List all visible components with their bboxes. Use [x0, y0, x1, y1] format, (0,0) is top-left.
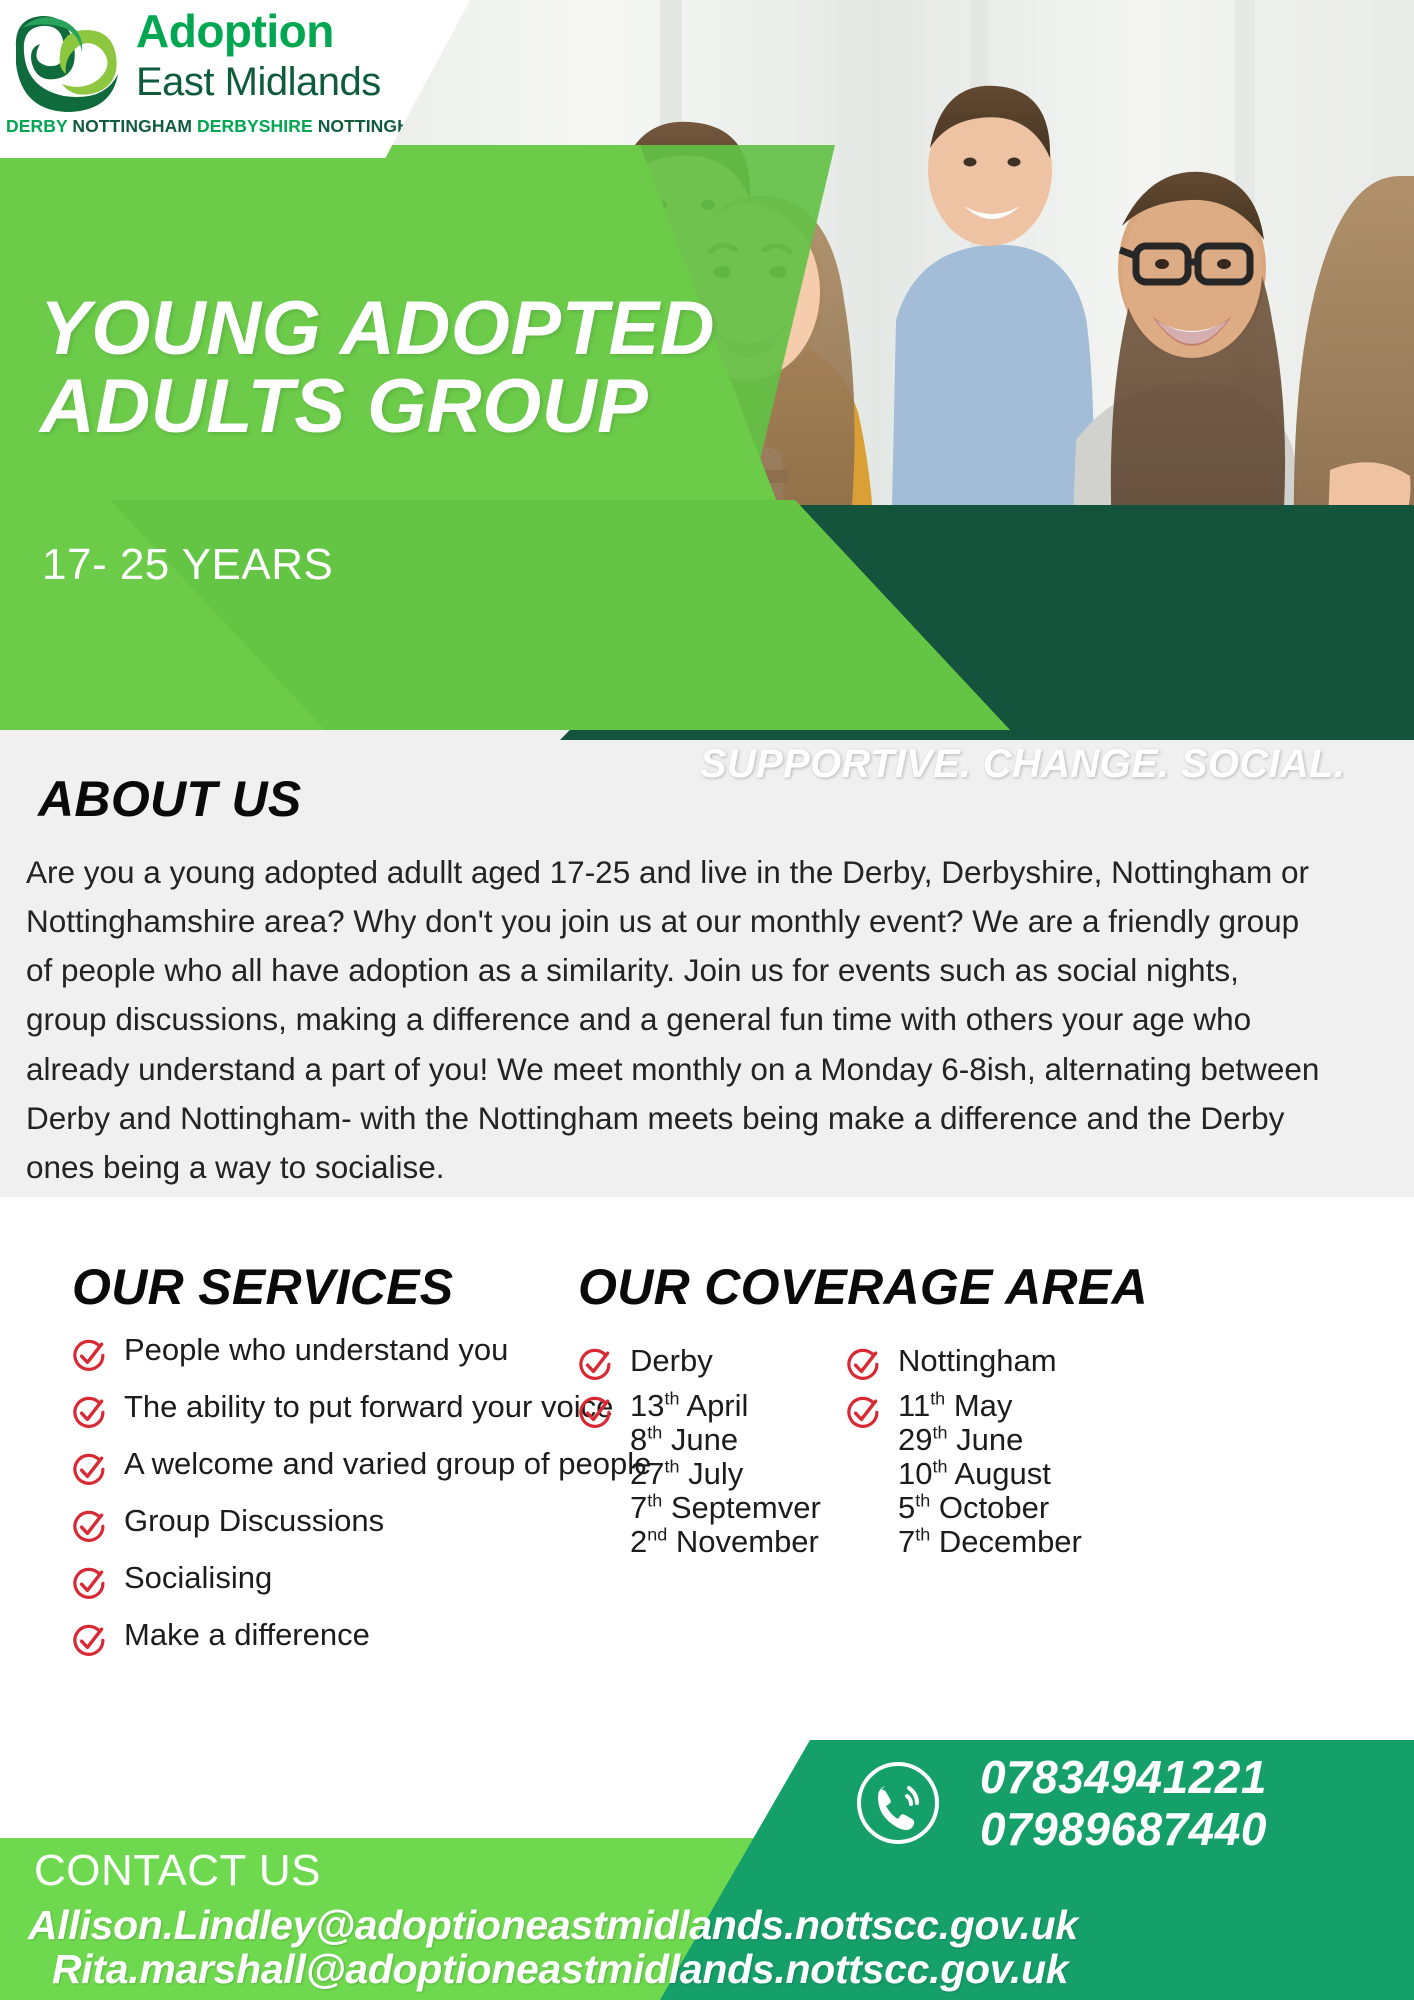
date-day: 27: [630, 1456, 664, 1491]
date-day: 5: [898, 1490, 915, 1525]
phone-numbers[interactable]: 07834941221 07989687440: [980, 1752, 1267, 1855]
check-circle-icon: [578, 1396, 612, 1430]
logo-subwordmark: East Midlands: [136, 62, 381, 102]
date-month: October: [939, 1490, 1049, 1525]
date-ordinal: th: [915, 1525, 930, 1545]
date-day: 8: [630, 1422, 647, 1457]
coverage-date-item: 8th June: [630, 1424, 821, 1455]
coverage-dates-row: 13th April8th June27th July7th Septemver…: [578, 1390, 846, 1560]
coverage-date-item: 5th October: [898, 1492, 1082, 1523]
date-ordinal: th: [647, 1491, 662, 1511]
coverage-date-item: 11th May: [898, 1390, 1082, 1421]
date-day: 13: [630, 1388, 664, 1423]
tagline: SUPPORTIVE. CHANGE. SOCIAL.: [700, 742, 1345, 787]
phone-number-1[interactable]: 07834941221: [980, 1752, 1267, 1804]
coverage-date-item: 10th August: [898, 1458, 1082, 1489]
date-month: June: [956, 1422, 1023, 1457]
coverage-city-row: Nottingham: [846, 1342, 1082, 1382]
date-ordinal: nd: [647, 1525, 667, 1545]
service-item-label: Socialising: [124, 1560, 272, 1596]
coverage-city-name: Derby: [630, 1342, 713, 1379]
coverage-city-column: Nottingham11th May29th June10th August5t…: [846, 1342, 1082, 1560]
phone-ringing-icon: [855, 1760, 941, 1846]
date-day: 7: [630, 1490, 647, 1525]
email-address-1[interactable]: Allison.Lindley@adoptioneastmidlands.not…: [28, 1902, 1078, 1949]
date-day: 29: [898, 1422, 932, 1457]
about-heading: ABOUT US: [38, 770, 302, 828]
date-day: 11: [898, 1388, 930, 1423]
coverage-city-column: Derby13th April8th June27th July7th Sept…: [578, 1342, 846, 1560]
coverage-date-item: 2nd November: [630, 1526, 821, 1557]
date-ordinal: th: [664, 1389, 679, 1409]
coverage-date-list: 13th April8th June27th July7th Septemver…: [630, 1390, 821, 1560]
date-month: April: [686, 1388, 748, 1423]
county-nottingham: NOTTINGHAM: [72, 116, 197, 136]
phone-number-2[interactable]: 07989687440: [980, 1804, 1267, 1856]
service-item-label: Group Discussions: [124, 1503, 384, 1539]
title-line-1: YOUNG ADOPTED: [40, 286, 715, 371]
check-circle-icon: [72, 1453, 106, 1487]
check-circle-icon: [846, 1348, 880, 1382]
coverage-city-row: Derby: [578, 1342, 846, 1382]
date-month: August: [954, 1456, 1051, 1491]
service-item: Socialising: [72, 1560, 672, 1601]
poster-root: Adoption East Midlands DERBY NOTTINGHAM …: [0, 0, 1414, 2000]
coverage-heading: OUR COVERAGE AREA: [578, 1258, 1408, 1316]
title-line-2: ADULTS GROUP: [40, 368, 900, 446]
date-ordinal: th: [647, 1423, 662, 1443]
coverage-dates-row: 11th May29th June10th August5th October7…: [846, 1390, 1082, 1560]
coverage-date-item: 29th June: [898, 1424, 1082, 1455]
logo-wordmark: Adoption: [136, 8, 334, 54]
service-item-label: Make a difference: [124, 1617, 370, 1653]
check-circle-icon: [846, 1396, 880, 1430]
date-month: June: [671, 1422, 738, 1457]
county-derbyshire: DERBYSHIRE: [197, 116, 318, 136]
age-range-subtitle: 17- 25 YEARS: [42, 540, 333, 590]
check-circle-icon: [578, 1348, 612, 1382]
coverage-date-item: 7th December: [898, 1526, 1082, 1557]
check-circle-icon: [72, 1339, 106, 1373]
date-ordinal: th: [664, 1457, 679, 1477]
date-month: November: [676, 1524, 819, 1559]
about-body-text: Are you a young adopted adullt aged 17-2…: [26, 848, 1326, 1192]
date-ordinal: th: [930, 1389, 945, 1409]
check-circle-icon: [72, 1510, 106, 1544]
date-month: December: [939, 1524, 1082, 1559]
service-item-label: The ability to put forward your voice: [124, 1389, 613, 1425]
coverage-date-item: 27th July: [630, 1458, 821, 1489]
check-circle-icon: [72, 1396, 106, 1430]
date-month: July: [688, 1456, 743, 1491]
coverage-grid: Derby13th April8th June27th July7th Sept…: [578, 1342, 1408, 1560]
service-item-label: People who understand you: [124, 1332, 508, 1368]
adoption-swoosh-logo-icon: [8, 8, 128, 118]
date-day: 10: [898, 1456, 932, 1491]
date-month: Septemver: [671, 1490, 821, 1525]
date-day: 7: [898, 1524, 915, 1559]
date-day: 2: [630, 1524, 647, 1559]
coverage-section: OUR COVERAGE AREA Derby13th April8th Jun…: [578, 1258, 1408, 1560]
coverage-date-list: 11th May29th June10th August5th October7…: [898, 1390, 1082, 1560]
coverage-date-item: 7th Septemver: [630, 1492, 821, 1523]
email-address-2[interactable]: Rita.marshall@adoptioneastmidlands.notts…: [52, 1946, 1068, 1993]
contact-us-label: CONTACT US: [34, 1846, 321, 1896]
date-ordinal: th: [915, 1491, 930, 1511]
service-item-label: A welcome and varied group of people: [124, 1446, 651, 1482]
check-circle-icon: [72, 1624, 106, 1658]
page-title: YOUNG ADOPTED ADULTS GROUP: [40, 290, 900, 445]
coverage-city-name: Nottingham: [898, 1342, 1057, 1379]
date-ordinal: th: [932, 1423, 947, 1443]
check-circle-icon: [72, 1567, 106, 1601]
date-ordinal: th: [932, 1457, 947, 1477]
coverage-date-item: 13th April: [630, 1390, 821, 1421]
service-item: Make a difference: [72, 1617, 672, 1658]
county-derby: DERBY: [6, 116, 72, 136]
date-month: May: [954, 1388, 1013, 1423]
